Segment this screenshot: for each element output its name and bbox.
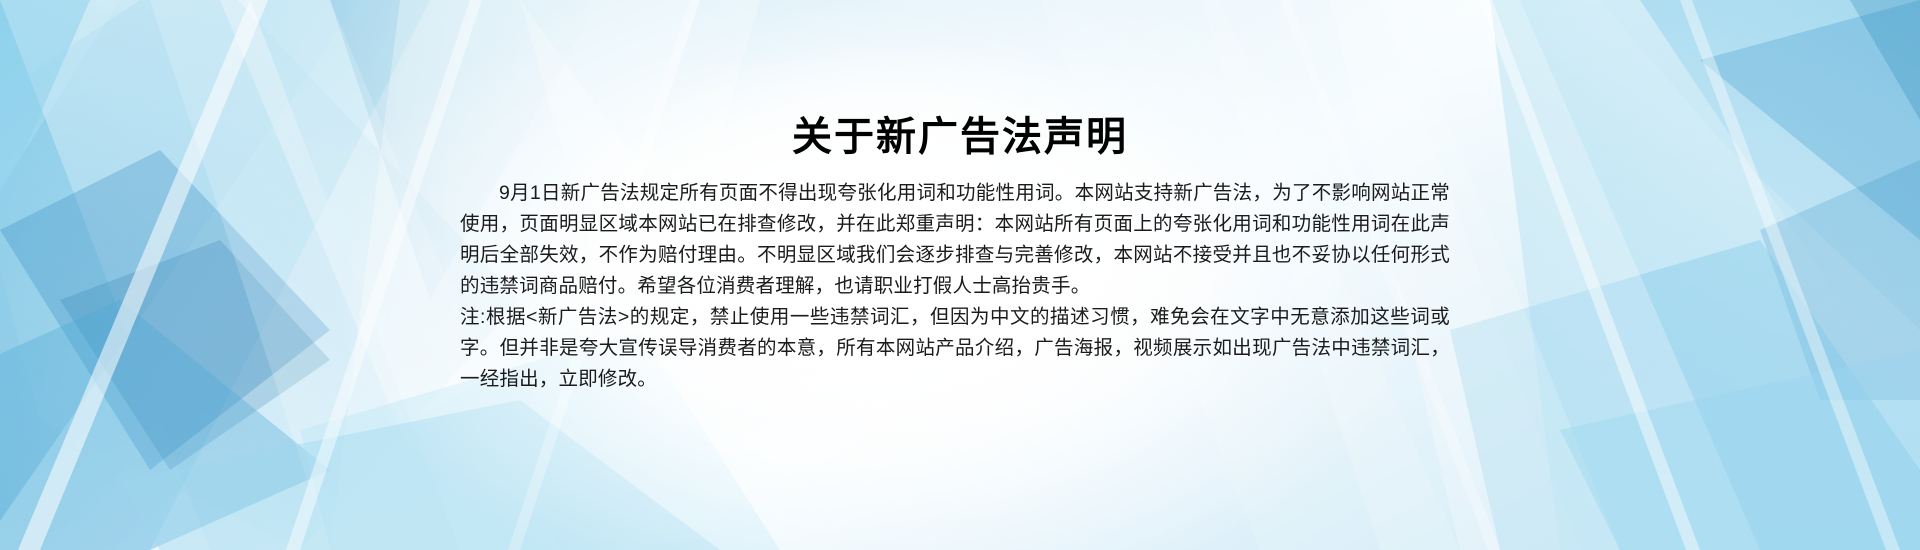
statement-body: 9月1日新广告法规定所有页面不得出现夸张化用词和功能性用词。本网站支持新广告法，…	[460, 178, 1450, 395]
page-title: 关于新广告法声明	[0, 113, 1920, 161]
statement-content: 关于新广告法声明 9月1日新广告法规定所有页面不得出现夸张化用词和功能性用词。本…	[0, 0, 1920, 550]
statement-paragraph-2: 注:根据<新广告法>的规定，禁止使用一些违禁词汇，但因为中文的描述习惯，难免会在…	[460, 302, 1450, 395]
statement-paragraph-1: 9月1日新广告法规定所有页面不得出现夸张化用词和功能性用词。本网站支持新广告法，…	[460, 178, 1450, 302]
page-root: 关于新广告法声明 9月1日新广告法规定所有页面不得出现夸张化用词和功能性用词。本…	[0, 0, 1920, 550]
